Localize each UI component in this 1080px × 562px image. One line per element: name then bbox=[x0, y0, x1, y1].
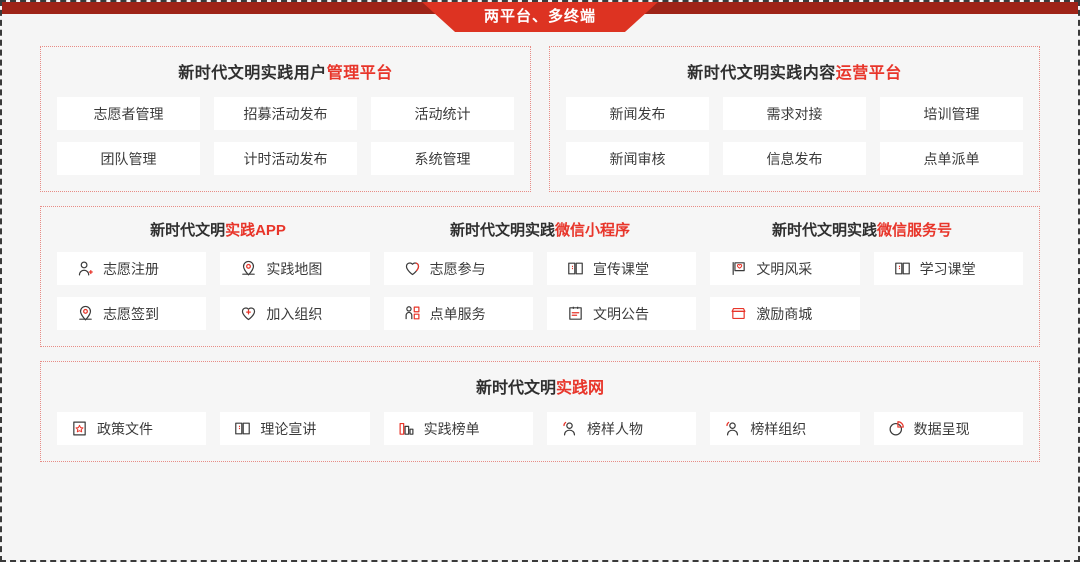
platforms-row: 新时代文明实践用户管理平台 志愿者管理 招募活动发布 活动统计 团队管理 计时活… bbox=[40, 46, 1040, 192]
icon-tile-label: 加入组织 bbox=[266, 304, 322, 324]
panel-content-operation-platform: 新时代文明实践内容运营平台 新闻发布 需求对接 培训管理 新闻审核 信息发布 点… bbox=[549, 46, 1040, 192]
heading-highlight: 微信小程序 bbox=[555, 222, 630, 239]
bar-chart-icon bbox=[398, 420, 415, 437]
heart-plus-icon bbox=[240, 305, 257, 322]
heading-highlight: 实践APP bbox=[225, 222, 286, 239]
icon-tile-order-service[interactable]: 点单服务 bbox=[384, 297, 533, 330]
icon-tile-model-person[interactable]: 榜样人物 bbox=[547, 412, 696, 445]
person-add-icon bbox=[77, 260, 94, 277]
tile-button[interactable]: 活动统计 bbox=[371, 97, 514, 130]
website-title-highlight: 实践网 bbox=[556, 380, 604, 397]
tile-button[interactable]: 志愿者管理 bbox=[57, 97, 200, 130]
icon-tile-label: 激励商城 bbox=[756, 304, 812, 324]
terminal-heading-service-account: 新时代文明实践微信服务号 bbox=[701, 219, 1023, 240]
tile-row: 团队管理 计时活动发布 系统管理 bbox=[57, 142, 514, 175]
content-area: 新时代文明实践用户管理平台 志愿者管理 招募活动发布 活动统计 团队管理 计时活… bbox=[2, 32, 1078, 470]
shop-icon bbox=[730, 305, 747, 322]
terminal-heading-miniprogram: 新时代文明实践微信小程序 bbox=[379, 219, 701, 240]
panel-title-plain: 新时代文明实践内容 bbox=[687, 65, 836, 82]
person-star-icon bbox=[561, 420, 578, 437]
tile-button[interactable]: 系统管理 bbox=[371, 142, 514, 175]
tile-button[interactable]: 需求对接 bbox=[723, 97, 866, 130]
icon-tile-label: 政策文件 bbox=[97, 419, 153, 439]
tile-button[interactable]: 点单派单 bbox=[880, 142, 1023, 175]
icon-tile-label: 点单服务 bbox=[430, 304, 486, 324]
heading-plain: 新时代文明 bbox=[150, 222, 225, 239]
icon-tile-label: 志愿参与 bbox=[430, 259, 486, 279]
open-book-icon bbox=[567, 260, 584, 277]
icon-tile-volunteer-checkin[interactable]: 志愿签到 bbox=[57, 297, 206, 330]
icon-tile-label: 文明公告 bbox=[593, 304, 649, 324]
panel-title: 新时代文明实践用户管理平台 bbox=[57, 59, 514, 83]
icon-tile-join-organization[interactable]: 加入组织 bbox=[220, 297, 369, 330]
flag-heart-icon bbox=[730, 260, 747, 277]
organization-icon bbox=[404, 305, 421, 322]
heading-plain: 新时代文明实践 bbox=[772, 222, 877, 239]
document-star-icon bbox=[71, 420, 88, 437]
pie-chart-icon bbox=[888, 420, 905, 437]
icon-tile-label: 理论宣讲 bbox=[260, 419, 316, 439]
banner-flag: 两平台、多终端 bbox=[422, 2, 658, 32]
icon-tile-label: 数据呈现 bbox=[914, 419, 970, 439]
panel-website: 新时代文明实践网 政策文件 理论宣讲 bbox=[40, 361, 1040, 462]
panel-user-management-platform: 新时代文明实践用户管理平台 志愿者管理 招募活动发布 活动统计 团队管理 计时活… bbox=[40, 46, 531, 192]
website-title-plain: 新时代文明 bbox=[476, 380, 556, 397]
panel-title-highlight: 管理平台 bbox=[327, 65, 393, 82]
panel-title-plain: 新时代文明实践用户 bbox=[178, 65, 327, 82]
icon-tile-label: 文明风采 bbox=[756, 259, 812, 279]
icon-tile-theory-lecture[interactable]: 理论宣讲 bbox=[220, 412, 369, 445]
heading-plain: 新时代文明实践 bbox=[450, 222, 555, 239]
icon-tile-label: 实践地图 bbox=[266, 259, 322, 279]
terminal-headings: 新时代文明实践APP 新时代文明实践微信小程序 新时代文明实践微信服务号 bbox=[57, 219, 1023, 240]
tile-button[interactable]: 信息发布 bbox=[723, 142, 866, 175]
tile-row: 新闻发布 需求对接 培训管理 bbox=[566, 97, 1023, 130]
tile-row: 志愿者管理 招募活动发布 活动统计 bbox=[57, 97, 514, 130]
terminal-heading-app: 新时代文明实践APP bbox=[57, 219, 379, 240]
icon-tile-label: 宣传课堂 bbox=[593, 259, 649, 279]
banner-title: 两平台、多终端 bbox=[484, 9, 596, 26]
heart-icon bbox=[404, 260, 421, 277]
icon-tile-model-organization[interactable]: 榜样组织 bbox=[710, 412, 859, 445]
icon-tile-label: 榜样人物 bbox=[587, 419, 643, 439]
website-icon-row: 政策文件 理论宣讲 实践榜单 bbox=[57, 412, 1023, 445]
panel-title-highlight: 运营平台 bbox=[836, 65, 902, 82]
panel-title: 新时代文明实践内容运营平台 bbox=[566, 59, 1023, 83]
tile-button[interactable]: 新闻发布 bbox=[566, 97, 709, 130]
icon-tile-civilization-announcement[interactable]: 文明公告 bbox=[547, 297, 696, 330]
tile-button[interactable]: 计时活动发布 bbox=[214, 142, 357, 175]
icon-tile-practice-ranking[interactable]: 实践榜单 bbox=[384, 412, 533, 445]
icon-tile-label: 实践榜单 bbox=[424, 419, 480, 439]
open-book-icon bbox=[894, 260, 911, 277]
icon-tile-placeholder bbox=[874, 297, 1023, 330]
icon-tile-study-classroom[interactable]: 学习课堂 bbox=[874, 252, 1023, 285]
banner: 两平台、多终端 bbox=[2, 2, 1078, 32]
tile-button[interactable]: 培训管理 bbox=[880, 97, 1023, 130]
terminal-icon-row: 志愿签到 加入组织 点单服务 bbox=[57, 297, 1023, 330]
icon-tile-label: 志愿签到 bbox=[103, 304, 159, 324]
tile-row: 新闻审核 信息发布 点单派单 bbox=[566, 142, 1023, 175]
tile-button[interactable]: 团队管理 bbox=[57, 142, 200, 175]
icon-tile-incentive-mall[interactable]: 激励商城 bbox=[710, 297, 859, 330]
heading-highlight: 微信服务号 bbox=[877, 222, 952, 239]
open-book-icon bbox=[234, 420, 251, 437]
icon-tile-volunteer-register[interactable]: 志愿注册 bbox=[57, 252, 206, 285]
icon-tile-policy-documents[interactable]: 政策文件 bbox=[57, 412, 206, 445]
icon-tile-label: 志愿注册 bbox=[103, 259, 159, 279]
tile-button[interactable]: 招募活动发布 bbox=[214, 97, 357, 130]
infographic-root: 两平台、多终端 新时代文明实践用户管理平台 志愿者管理 招募活动发布 活动统计 … bbox=[0, 0, 1080, 562]
announcement-icon bbox=[567, 305, 584, 322]
icon-tile-label: 榜样组织 bbox=[750, 419, 806, 439]
icon-tile-promotion-classroom[interactable]: 宣传课堂 bbox=[547, 252, 696, 285]
website-title: 新时代文明实践网 bbox=[57, 374, 1023, 398]
icon-tile-practice-map[interactable]: 实践地图 bbox=[220, 252, 369, 285]
map-pin-icon bbox=[77, 305, 94, 322]
icon-tile-label: 学习课堂 bbox=[920, 259, 976, 279]
terminal-icon-row: 志愿注册 实践地图 志愿参与 bbox=[57, 252, 1023, 285]
panel-terminals: 新时代文明实践APP 新时代文明实践微信小程序 新时代文明实践微信服务号 志愿注… bbox=[40, 206, 1040, 347]
icon-tile-volunteer-participate[interactable]: 志愿参与 bbox=[384, 252, 533, 285]
person-star-icon bbox=[724, 420, 741, 437]
icon-tile-civilization-style[interactable]: 文明风采 bbox=[710, 252, 859, 285]
icon-tile-data-presentation[interactable]: 数据呈现 bbox=[874, 412, 1023, 445]
tile-button[interactable]: 新闻审核 bbox=[566, 142, 709, 175]
map-pin-icon bbox=[240, 260, 257, 277]
